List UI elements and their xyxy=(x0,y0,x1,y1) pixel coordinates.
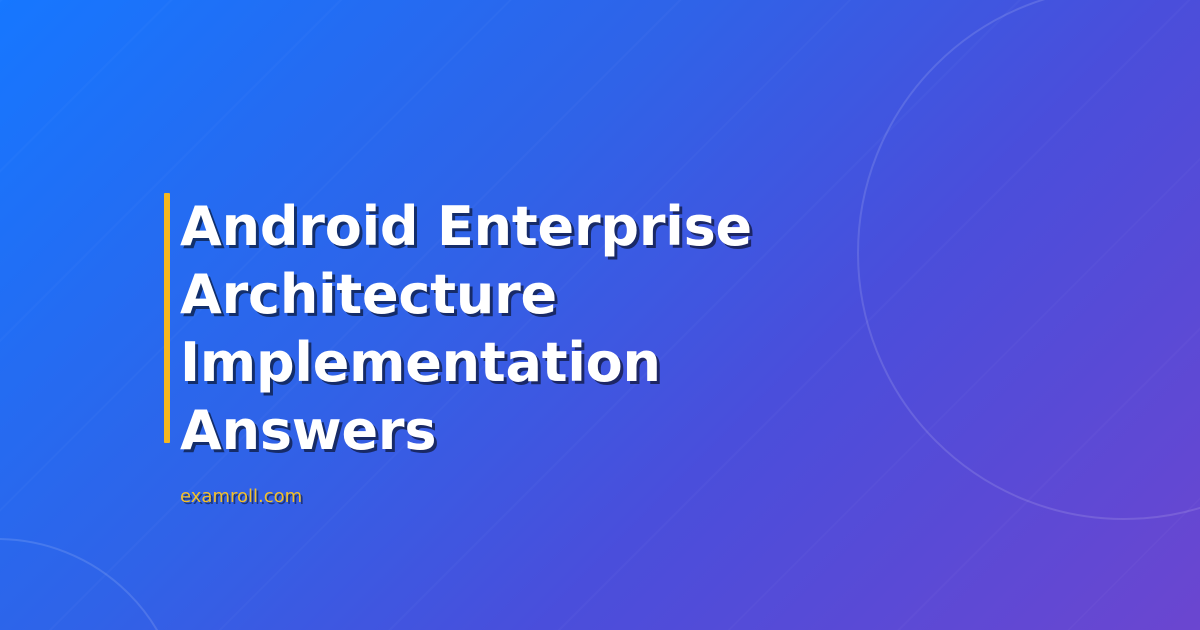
decorative-circle-bottom-left-icon xyxy=(0,538,184,630)
site-name-label: examroll.com xyxy=(180,465,1040,508)
page-title: Android Enterprise Architecture Implemen… xyxy=(180,193,1040,465)
accent-bar xyxy=(164,193,170,443)
social-share-card: Android Enterprise Architecture Implemen… xyxy=(0,0,1200,630)
text-block: Android Enterprise Architecture Implemen… xyxy=(180,193,1040,508)
